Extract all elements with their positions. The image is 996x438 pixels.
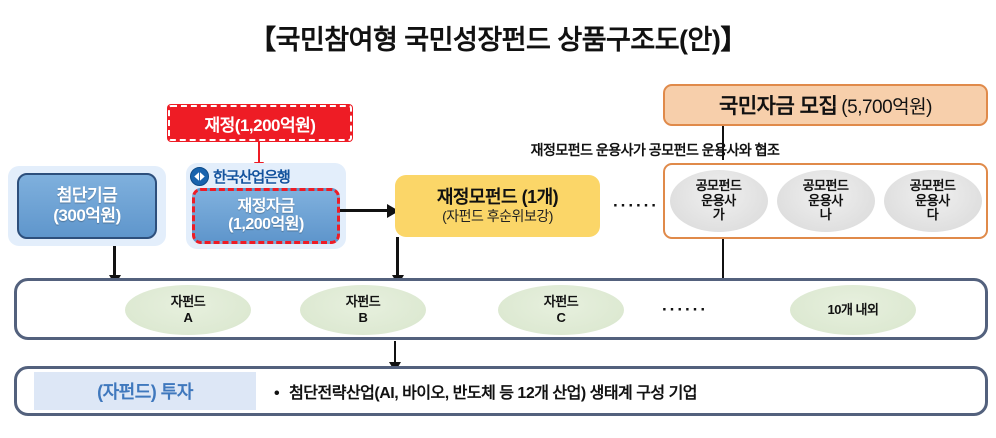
- kdb-bank-name: 한국산업은행: [213, 166, 290, 187]
- manager-c-line2: 운용사: [915, 194, 949, 209]
- manager-b-line2: 운용사: [808, 194, 842, 209]
- advanced-fund-amount: (300억원): [53, 206, 120, 226]
- subfund-c-label: 자펀드: [544, 294, 578, 310]
- manager-a-line1: 공모펀드: [696, 179, 742, 194]
- managers-to-subfunds-arrow: [722, 239, 724, 281]
- advanced-fund-box: 첨단기금 (300억원): [17, 173, 157, 239]
- mother-fund-subtitle: (자펀드 후순위보강): [442, 208, 553, 225]
- manager-c-line1: 공모펀드: [910, 179, 956, 194]
- bullet-icon: •: [274, 385, 279, 402]
- fiscal-capital-box: 재정자금 (1,200억원): [192, 188, 340, 244]
- public-fund-manager-b: 공모펀드 운용사 나: [777, 170, 875, 232]
- subfund-a-label: 자펀드: [171, 294, 205, 310]
- public-money-box: 국민자금 모집 (5,700억원): [663, 84, 988, 126]
- investment-label: (자펀드) 투자: [34, 372, 256, 410]
- advanced-fund-to-subfunds-arrow: [113, 246, 116, 276]
- fiscal-capital-name: 재정자금: [238, 198, 295, 216]
- capital-to-mother-fund-arrow: [340, 209, 388, 212]
- subfund-count-label: 10개 내외: [828, 302, 879, 318]
- manager-a-line3: 가: [713, 208, 724, 223]
- investment-description-text: 첨단전략산업(AI, 바이오, 반도체 등 12개 산업) 생태계 구성 기업: [289, 385, 697, 402]
- subfund-b-id: B: [359, 310, 368, 326]
- public-fund-managers-group: 공모펀드 운용사 가 공모펀드 운용사 나 공모펀드 운용사 다: [663, 163, 988, 239]
- manager-a-line2: 운용사: [701, 194, 735, 209]
- public-money-amount: (5,700억원): [841, 92, 932, 119]
- kdb-header: 한국산업은행: [190, 166, 342, 187]
- fiscal-budget-chip: 재정(1,200억원): [168, 105, 352, 141]
- public-fund-manager-a: 공모펀드 운용사 가: [670, 170, 768, 232]
- subfund-b: 자펀드 B: [300, 285, 426, 335]
- fiscal-capital-amount: (1,200억원): [228, 216, 304, 234]
- kdb-logo-icon: [190, 167, 209, 186]
- subfund-c: 자펀드 C: [498, 285, 624, 335]
- mother-fund-ellipsis: ······: [613, 196, 659, 216]
- mother-fund-to-subfunds-arrow: [396, 237, 399, 276]
- manager-b-line3: 나: [820, 208, 831, 223]
- advanced-fund-name: 첨단기금: [57, 186, 118, 206]
- page-title: 【국민참여형 국민성장펀드 상품구조도(안)】: [0, 18, 996, 57]
- subfunds-to-investment-arrow: [394, 341, 396, 363]
- cooperation-note: 재정모펀드 운용사가 공모펀드 운용사와 협조: [485, 140, 825, 160]
- investment-bar: (자펀드) 투자 • 첨단전략산업(AI, 바이오, 반도체 등 12개 산업)…: [14, 366, 988, 416]
- public-money-title: 국민자금 모집: [719, 90, 837, 120]
- subfunds-ellipsis: ······: [650, 300, 720, 320]
- mother-fund-box: 재정모펀드 (1개) (자펀드 후순위보강): [395, 175, 600, 237]
- public-fund-manager-c: 공모펀드 운용사 다: [884, 170, 982, 232]
- fiscal-to-bank-arrow: [258, 141, 260, 163]
- manager-b-line1: 공모펀드: [803, 179, 849, 194]
- subfund-count-note: 10개 내외: [790, 285, 916, 335]
- manager-c-line3: 다: [927, 208, 938, 223]
- fiscal-budget-label: 재정(1,200억원): [205, 111, 316, 136]
- diagram-canvas: 【국민참여형 국민성장펀드 상품구조도(안)】 재정(1,200억원) 첨단기금…: [0, 0, 996, 438]
- investment-description: • 첨단전략산업(AI, 바이오, 반도체 등 12개 산업) 생태계 구성 기…: [274, 379, 697, 403]
- subfund-c-id: C: [557, 310, 566, 326]
- subfund-a: 자펀드 A: [125, 285, 251, 335]
- subfund-a-id: A: [184, 310, 193, 326]
- subfund-b-label: 자펀드: [346, 294, 380, 310]
- mother-fund-title: 재정모펀드 (1개): [437, 187, 558, 208]
